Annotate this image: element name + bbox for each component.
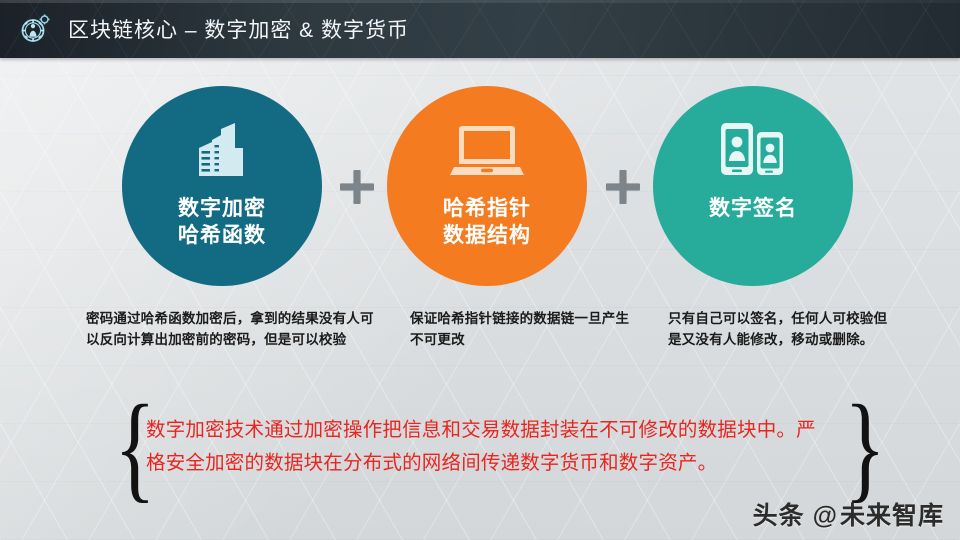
page-title: 区块链核心 – 数字加密 & 数字货币 xyxy=(68,14,409,44)
plus-icon-1 xyxy=(338,168,376,206)
watermark-account: 未来智库 xyxy=(840,496,944,532)
summary-text: 数字加密技术通过加密操作把信息和交易数据封装在不可修改的数据块中。严格安全加密的… xyxy=(140,414,840,480)
building-skyscraper-icon xyxy=(188,116,256,186)
laptop-icon xyxy=(449,116,525,186)
pillar-description-signature: 只有自己可以签名，任何人可校验但是又没有人能修改，移动或删除。 xyxy=(668,308,898,351)
pillar-circle-encryption[interactable]: 数字加密 哈希函数 xyxy=(122,86,322,286)
pillar-label-line1: 数字签名 xyxy=(709,197,797,220)
pillar-description-hashpointer: 保证哈希指针链接的数据链一旦产生不可更改 xyxy=(410,308,640,351)
pillar-circle-hashpointer[interactable]: 哈希指针 数据结构 xyxy=(387,86,587,286)
pillar-label-line2: 数据结构 xyxy=(443,224,531,247)
pillar-label-line1: 数字加密 xyxy=(178,197,266,220)
pillar-circle-signature[interactable]: 数字签名 xyxy=(653,86,853,286)
pillar-description-encryption: 密码通过哈希函数加密后，拿到的结果没有人可以反向计算出加密前的密码，但是可以校验 xyxy=(86,308,376,351)
watermark-platform: 头条 xyxy=(753,496,805,532)
slide-root: 区块链核心 – 数字加密 & 数字货币 xyxy=(0,0,960,540)
plus-icon-2 xyxy=(604,168,642,206)
right-brace-icon: } xyxy=(844,398,866,496)
slide-header: 区块链核心 – 数字加密 & 数字货币 xyxy=(0,0,960,58)
gear-person-icon xyxy=(18,12,52,46)
pillar-label-line1: 哈希指针 xyxy=(443,197,531,220)
pillar-descriptions: 密码通过哈希函数加密后，拿到的结果没有人可以反向计算出加密前的密码，但是可以校验… xyxy=(0,308,960,388)
left-brace-icon: { xyxy=(114,398,136,496)
watermark-at-symbol: @ xyxy=(813,502,838,531)
pillars-row: 数字加密 哈希函数 xyxy=(0,72,960,312)
pillar-label-signature: 数字签名 xyxy=(709,196,797,223)
pillar-label-line2: 哈希函数 xyxy=(178,224,266,247)
two-phones-people-icon xyxy=(717,116,789,186)
watermark: 头条 @ 未来智库 xyxy=(753,496,944,532)
summary-callout: { 数字加密技术通过加密操作把信息和交易数据封装在不可修改的数据块中。严格安全加… xyxy=(110,392,870,502)
pillar-label-encryption: 数字加密 哈希函数 xyxy=(178,196,266,250)
pillar-label-hashpointer: 哈希指针 数据结构 xyxy=(443,196,531,250)
